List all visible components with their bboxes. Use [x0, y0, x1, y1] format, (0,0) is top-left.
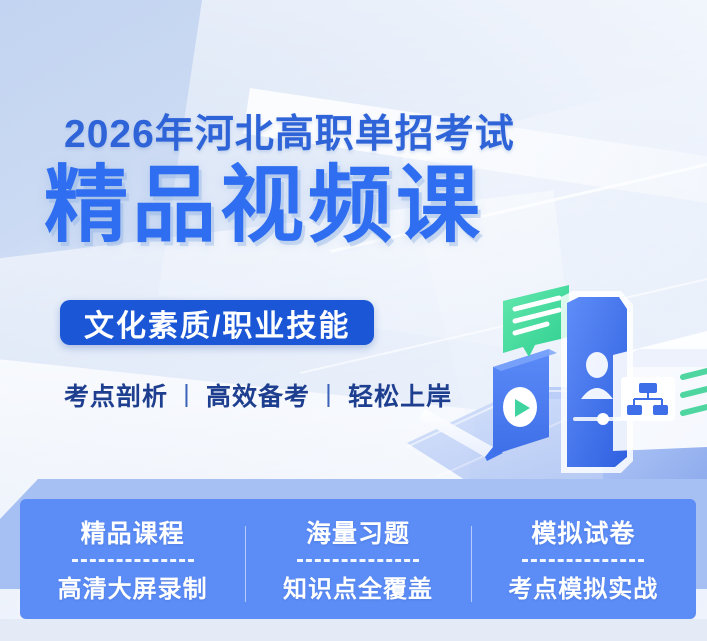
feature-title: 海量习题: [306, 514, 410, 550]
video-play-card: [493, 349, 557, 455]
page-title: 精品视频课: [44, 160, 484, 251]
iso-platform: [407, 349, 707, 485]
feature-item-exercises[interactable]: 海量习题 知识点全覆盖: [245, 514, 470, 604]
feature-item-mock-exams[interactable]: 模拟试卷 考点模拟实战: [471, 514, 696, 604]
tagline-separator-2: 丨: [310, 383, 348, 411]
feature-title: 精品课程: [81, 514, 185, 550]
feature-bar-wrapper: 精品课程 高清大屏录制 海量习题 知识点全覆盖 模拟试卷 考点模拟实战: [0, 466, 707, 641]
feature-dashed-divider: [72, 559, 194, 562]
tagline-part-1: 考点剖析: [64, 383, 168, 411]
feature-subtitle: 考点模拟实战: [508, 569, 658, 604]
banner-kicker: 2026年河北高职单招考试: [64, 103, 515, 159]
green-speech-bubble-icon: [503, 285, 569, 357]
tagline-separator-1: 丨: [168, 383, 206, 411]
phone-profile-panel: [561, 291, 633, 473]
bottom-strip: [0, 619, 707, 641]
tagline-part-3: 轻松上岸: [348, 383, 452, 411]
stylus-pen-icon: [419, 409, 503, 461]
sitemap-info-card: [613, 331, 707, 451]
feature-dashed-divider: [522, 559, 644, 562]
feature-title: 模拟试卷: [531, 514, 635, 550]
category-badge: 文化素质/职业技能: [60, 300, 374, 345]
feature-subtitle: 高清大屏录制: [58, 569, 208, 604]
feature-bar: 精品课程 高清大屏录制 海量习题 知识点全覆盖 模拟试卷 考点模拟实战: [20, 499, 696, 619]
feature-dashed-divider: [297, 559, 419, 562]
sitemap-icon: [627, 383, 668, 415]
promo-banner: 2026年河北高职单招考试 精品视频课 文化素质/职业技能 考点剖析丨高效备考丨…: [0, 0, 707, 641]
tagline-part-2: 高效备考: [206, 383, 310, 411]
feature-item-courses[interactable]: 精品课程 高清大屏录制: [20, 514, 245, 604]
feature-subtitle: 知识点全覆盖: [283, 569, 433, 604]
banner-tagline: 考点剖析丨高效备考丨轻松上岸: [64, 377, 452, 413]
